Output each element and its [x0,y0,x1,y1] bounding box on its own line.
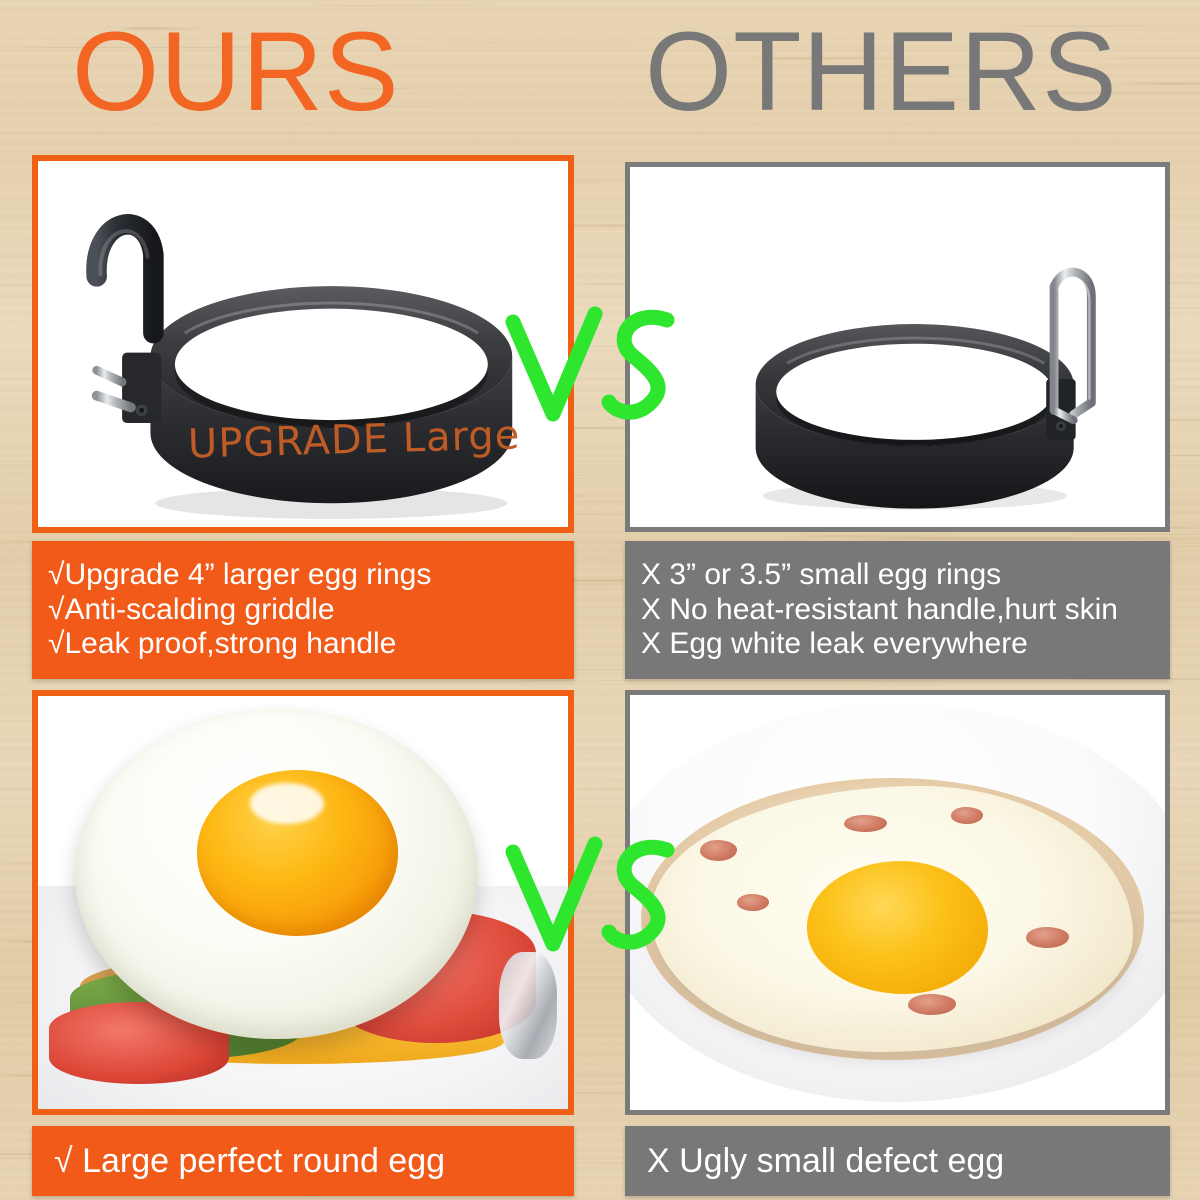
result-photo-ours-egg [32,690,574,1115]
result-photo-others-egg [625,690,1170,1115]
egg-ring-large-illustration [38,161,568,531]
result-caption-ours: √ Large perfect round egg [32,1126,574,1196]
yolk-highlight [250,783,324,824]
feature-list-others: X 3” or 3.5” small egg rings X No heat-r… [625,541,1170,679]
feature-item: √Upgrade 4” larger egg rings [48,558,574,593]
feature-item: √Anti-scalding griddle [48,593,574,628]
caption-text: X Ugly small defect egg [647,1142,1004,1181]
egg-yolk-irregular [807,861,989,994]
feature-item: X Egg white leak everywhere [641,627,1170,662]
product-label-upgrade-large: UPGRADE Large [187,412,520,467]
feature-list-ours: √Upgrade 4” larger egg rings √Anti-scald… [32,541,574,679]
feature-item: X 3” or 3.5” small egg rings [641,558,1170,593]
egg-defect-spot [844,815,887,832]
feature-item: X No heat-resistant handle,hurt skin [641,593,1170,628]
egg-defect-spot [908,994,956,1015]
feature-item: √Leak proof,strong handle [48,627,574,662]
egg-defect-spot [700,840,737,861]
caption-text: √ Large perfect round egg [54,1142,445,1181]
result-caption-others: X Ugly small defect egg [625,1126,1170,1196]
egg-defect-spot [951,807,983,824]
egg-ring-small-illustration [630,167,1165,530]
egg-defect-spot [737,894,769,911]
cutlery [499,952,557,1059]
heading-others: OTHERS [645,16,1118,128]
product-photo-others-ring: SMALL [625,162,1170,532]
heading-ours: OURS [72,16,400,128]
product-photo-ours-ring: UPGRADE Large [32,155,574,533]
